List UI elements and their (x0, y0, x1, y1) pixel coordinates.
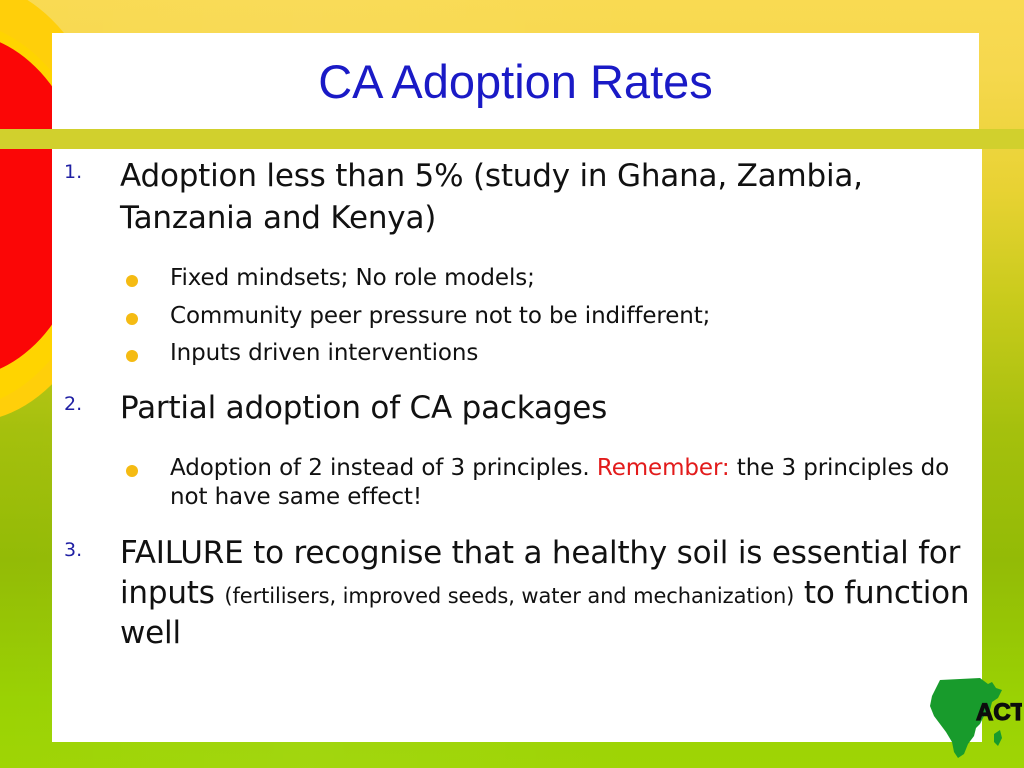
spacer (52, 369, 982, 387)
bullet-dot-icon (126, 275, 138, 287)
africa-map-icon: ACT (918, 672, 1022, 768)
list-item: 1. Adoption less than 5% (study in Ghana… (52, 155, 982, 239)
sub-list-item-text: Fixed mindsets; No role models; (170, 264, 982, 293)
page-title: CA Adoption Rates (318, 58, 713, 105)
sub-list-item-text: Community peer pressure not to be indiff… (170, 302, 982, 331)
svg-text:ACT: ACT (976, 699, 1022, 726)
bullet-dot-icon (126, 313, 138, 325)
slide-canvas: CA Adoption Rates 1. Adoption less than … (0, 0, 1024, 768)
sub-list-item: Adoption of 2 instead of 3 principles. R… (52, 454, 982, 513)
list-item: 3. FAILURE to recognise that a healthy s… (52, 533, 982, 654)
spacer (52, 429, 982, 447)
act-logo: ACT (918, 672, 1022, 768)
sub-text-highlight: Remember: (597, 455, 730, 481)
list-item-text: Partial adoption of CA packages (120, 387, 982, 429)
list-item-text: Adoption less than 5% (study in Ghana, Z… (120, 155, 982, 239)
title-separator-band (0, 129, 1024, 149)
spacer (52, 513, 982, 533)
list-item-number: 1. (64, 161, 104, 183)
sub-list-item-text: Inputs driven interventions (170, 339, 982, 368)
sub-text-lead: Adoption of 2 instead of 3 principles. (170, 455, 597, 481)
sub-list-item: Fixed mindsets; No role models; (52, 264, 982, 293)
list-item: 2. Partial adoption of CA packages (52, 387, 982, 429)
sub-list-item: Inputs driven interventions (52, 339, 982, 368)
list-item-number: 3. (64, 539, 104, 561)
bullet-dot-icon (126, 350, 138, 362)
act-logo-text: ACT (976, 699, 1022, 726)
content-box: 1. Adoption less than 5% (study in Ghana… (52, 149, 982, 742)
list-item-number: 2. (64, 393, 104, 415)
list-item-text: FAILURE to recognise that a healthy soil… (120, 533, 982, 654)
spacer (52, 239, 982, 257)
sub-list-item: Community peer pressure not to be indiff… (52, 302, 982, 331)
list-item-text-parenthetical: (fertilisers, improved seeds, water and … (224, 584, 794, 608)
bullet-dot-icon (126, 465, 138, 477)
content-list: 1. Adoption less than 5% (study in Ghana… (52, 155, 982, 654)
sub-list-item-text: Adoption of 2 instead of 3 principles. R… (170, 454, 982, 513)
title-box: CA Adoption Rates (52, 33, 979, 129)
